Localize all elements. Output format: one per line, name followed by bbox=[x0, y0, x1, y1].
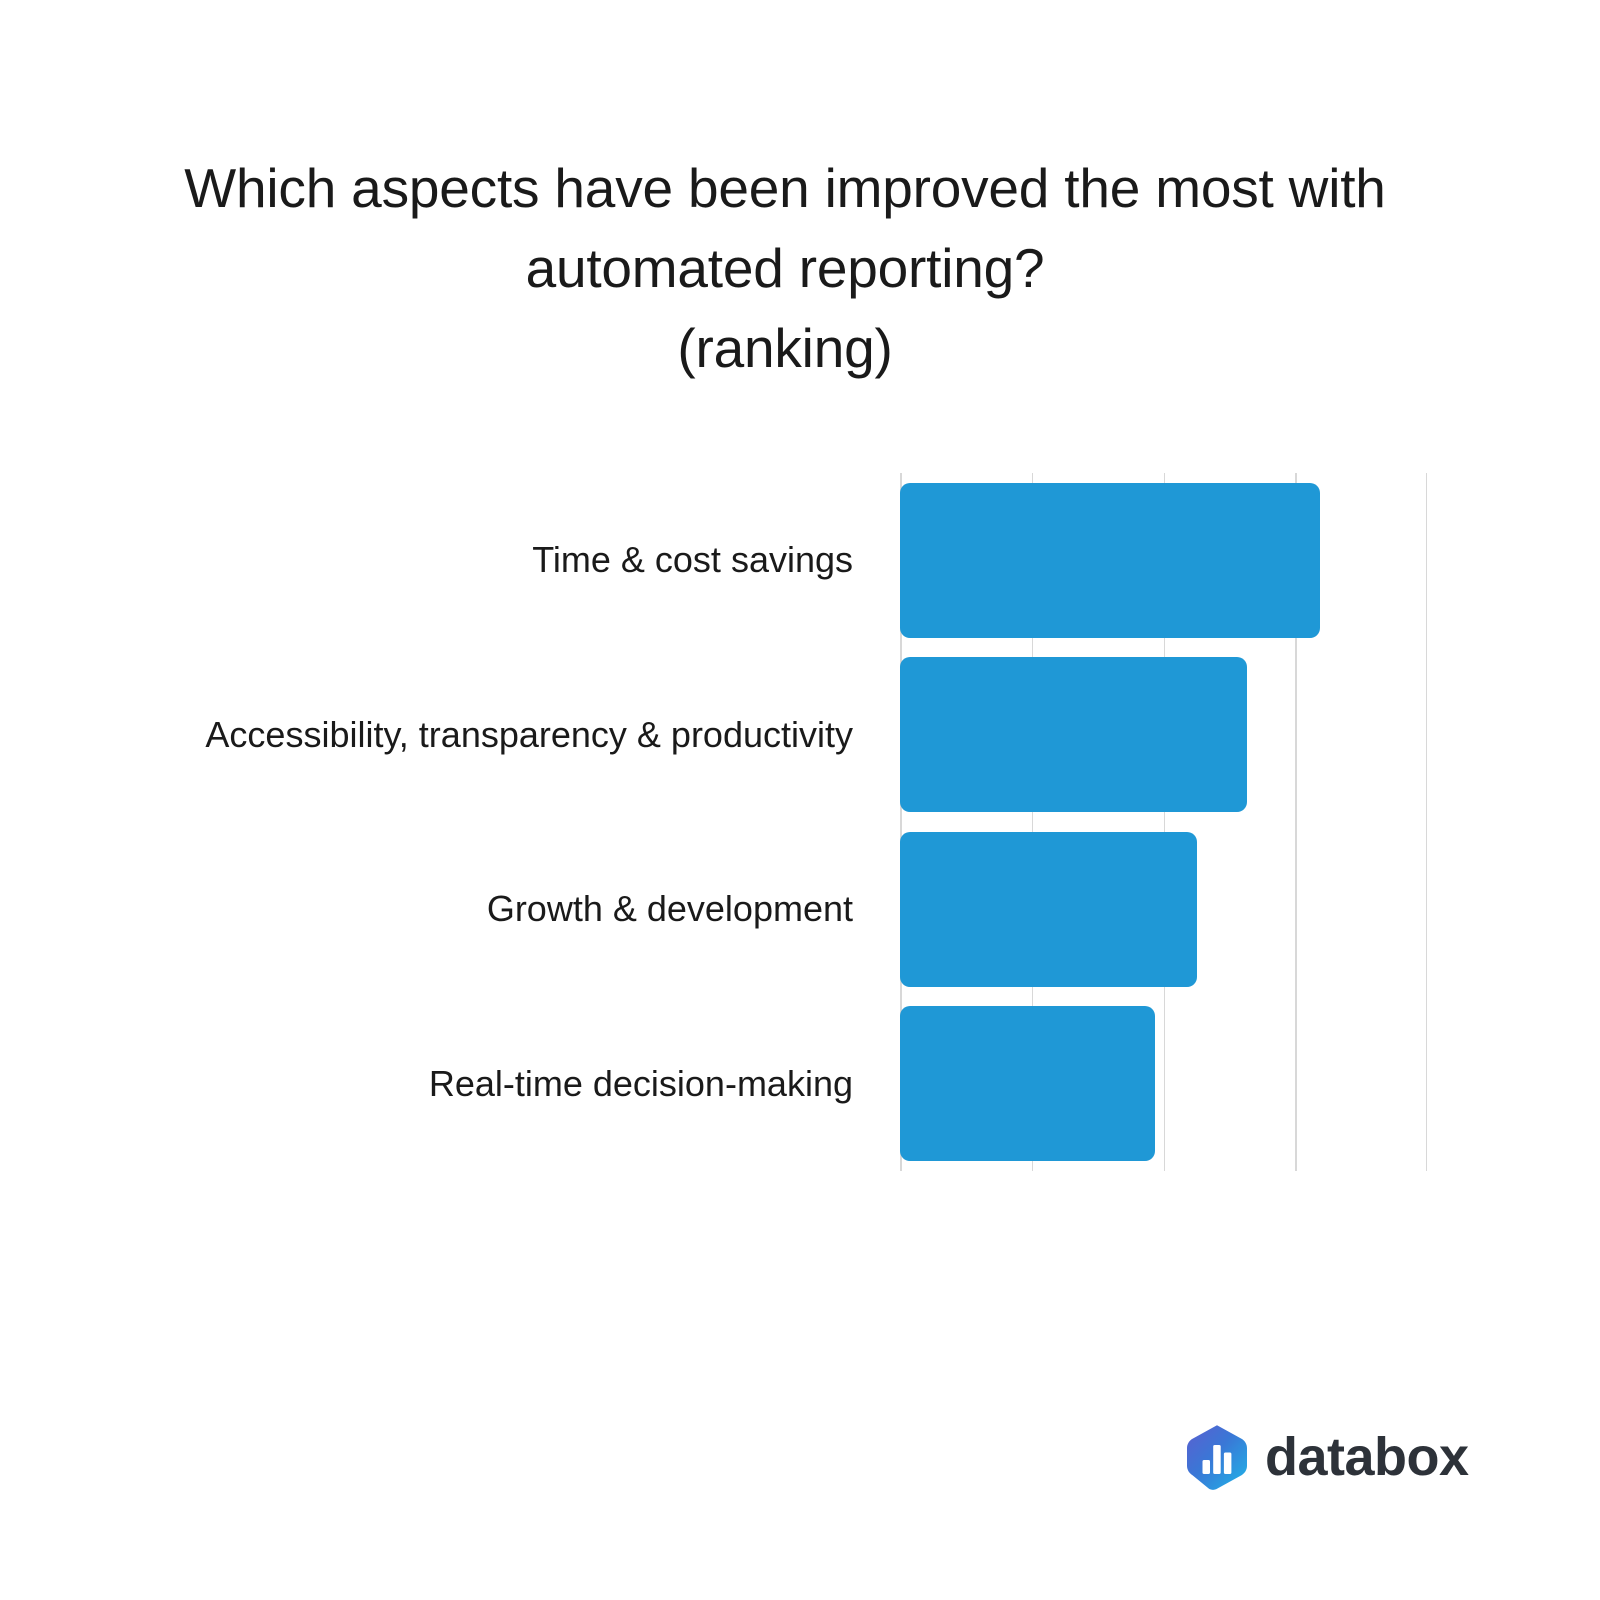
chart-canvas: Time & cost savings Accessibility, trans… bbox=[0, 0, 1600, 1600]
databox-hexagon-bar-chart-icon bbox=[1186, 1424, 1248, 1490]
category-label-time-cost-savings: Time & cost savings bbox=[532, 539, 855, 581]
category-label-growth-development: Growth & development bbox=[487, 888, 855, 930]
bar-row bbox=[900, 822, 1427, 997]
category-label-row: Accessibility, transparency & productivi… bbox=[60, 648, 855, 823]
databox-logo[interactable]: databox bbox=[1186, 1424, 1469, 1490]
bar-row bbox=[900, 473, 1427, 648]
bar-series bbox=[900, 473, 1427, 1171]
databox-wordmark: databox bbox=[1265, 1430, 1469, 1484]
bar-accessibility-transparency-productivity[interactable] bbox=[900, 657, 1247, 812]
category-label-row: Growth & development bbox=[60, 822, 855, 997]
category-axis-labels: Time & cost savings Accessibility, trans… bbox=[60, 473, 855, 1171]
category-label-accessibility-transparency-productivity: Accessibility, transparency & productivi… bbox=[205, 714, 855, 756]
plot-area bbox=[900, 473, 1427, 1171]
category-label-row: Time & cost savings bbox=[60, 473, 855, 648]
bar-real-time-decision-making[interactable] bbox=[900, 1006, 1155, 1161]
bar-time-cost-savings[interactable] bbox=[900, 483, 1320, 638]
category-label-real-time-decision-making: Real-time decision-making bbox=[429, 1063, 855, 1105]
chart-page: Which aspects have been improved the mos… bbox=[0, 0, 1600, 1600]
bar-row bbox=[900, 648, 1427, 823]
bar-growth-development[interactable] bbox=[900, 832, 1197, 987]
bar-row bbox=[900, 997, 1427, 1172]
category-label-row: Real-time decision-making bbox=[60, 997, 855, 1172]
